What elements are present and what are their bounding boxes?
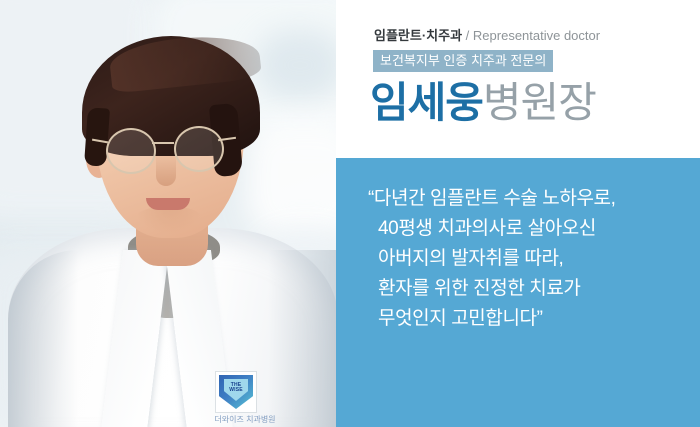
- doctor-photo: THE WISE 더와이즈 치과병원: [0, 0, 336, 427]
- doctor-figure: THE WISE 더와이즈 치과병원: [0, 0, 336, 427]
- coat-shading: [8, 250, 78, 427]
- doctor-title: 병원장: [483, 79, 596, 126]
- sideburn-left: [84, 107, 110, 166]
- nose: [156, 152, 176, 186]
- mouth: [146, 198, 190, 210]
- clinic-logo-label: THE WISE: [225, 383, 247, 393]
- quote-line: 아버지의 발자취를 따라,: [368, 244, 698, 274]
- coat-shading: [268, 250, 336, 427]
- doctor-profile-banner: THE WISE 더와이즈 치과병원 임플란트·치주과 / Representa…: [0, 0, 700, 427]
- quote-line: “다년간 임플란트 수술 노하우로,: [368, 184, 698, 214]
- department-kicker: 임플란트·치주과 / Representative doctor: [374, 25, 600, 44]
- department-kicker-en: Representative doctor: [473, 28, 600, 43]
- department-kicker-separator: /: [462, 28, 473, 43]
- certification-badge: 보건복지부 인증 치주과 전문의: [373, 50, 553, 72]
- chin-shading: [134, 206, 204, 234]
- eyeglass-lens-right: [174, 126, 224, 172]
- quote-line: 40평생 치과의사로 살아오신: [368, 214, 698, 244]
- quote-line: 무엇인지 고민합니다”: [368, 304, 698, 334]
- header-pane: 임플란트·치주과 / Representative doctor 보건복지부 인…: [336, 0, 700, 158]
- quote-pane: “다년간 임플란트 수술 노하우로, 40평생 치과의사로 살아오신 아버지의 …: [336, 158, 700, 427]
- doctor-quote: “다년간 임플란트 수술 노하우로, 40평생 치과의사로 살아오신 아버지의 …: [368, 184, 698, 334]
- eyeglass-lens-left: [106, 128, 156, 174]
- doctor-name-heading: 임세웅병원장: [370, 78, 596, 128]
- doctor-name: 임세웅: [370, 79, 483, 126]
- department-kicker-ko: 임플란트·치주과: [374, 28, 462, 43]
- quote-line: 환자를 위한 진정한 치료가: [368, 274, 698, 304]
- clinic-name-embroidery: 더와이즈 치과병원: [200, 414, 290, 425]
- eyeglass-bridge: [152, 142, 174, 144]
